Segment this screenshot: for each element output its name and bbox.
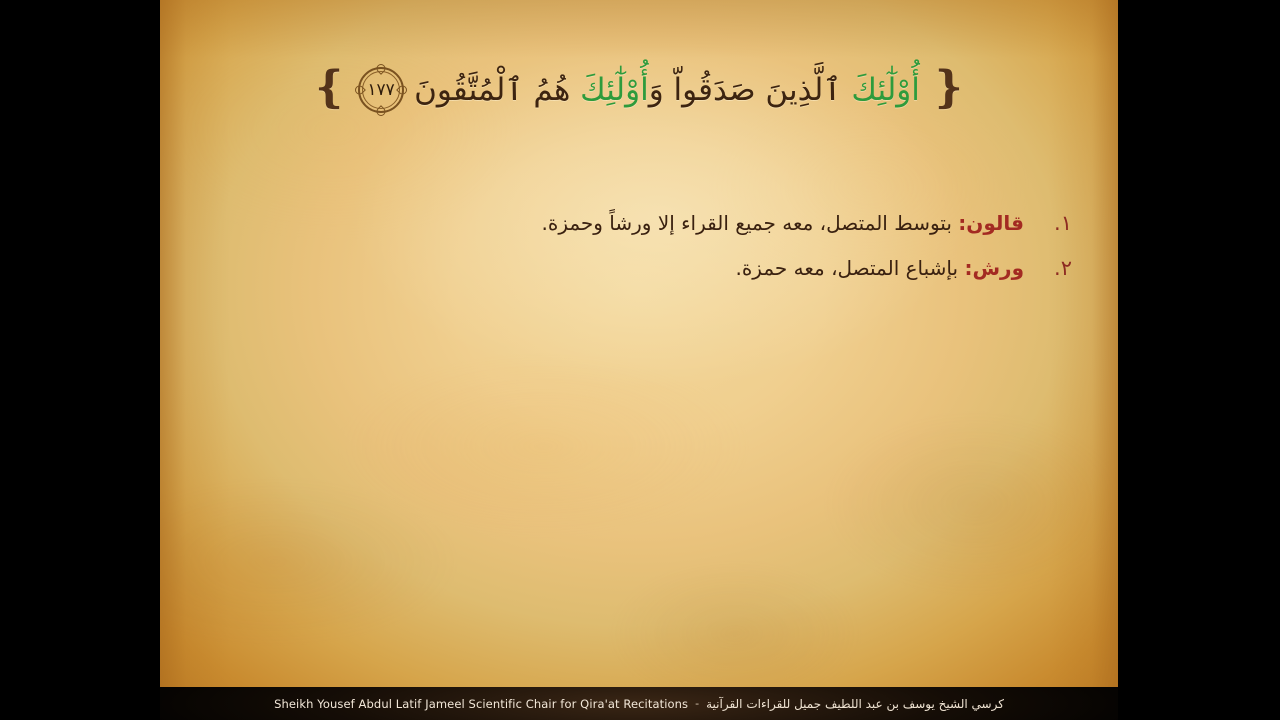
note-reciter-name: ورش: xyxy=(964,256,1024,280)
list-item: ٢. ورش: بإشباع المتصل، معه حمزة. xyxy=(456,253,1076,284)
recitation-notes-list: ١. قالون: بتوسط المتصل، معه جميع القراء … xyxy=(456,208,1076,298)
ayah-number-label: ١٧٧ xyxy=(367,80,394,100)
footer-credit-arabic: كرسي الشيخ يوسف بن عبد اللطيف جميل للقرا… xyxy=(706,697,1004,711)
verse-segment-0: أُوْلٰٓئِكَ xyxy=(851,72,920,108)
verse-segment-1: ٱلَّذِينَ صَدَقُواّ وَ xyxy=(649,72,852,108)
quran-verse-text: أُوْلٰٓئِكَ ٱلَّذِينَ صَدَقُواّ وَأُوْلٰ… xyxy=(414,67,920,114)
note-detail-text: بتوسط المتصل، معه جميع القراء إلا ورشاً … xyxy=(541,211,958,235)
note-detail-text: بإشباع المتصل، معه حمزة. xyxy=(735,256,964,280)
ayah-end-marker: ١٧٧ xyxy=(358,67,404,113)
note-body: ورش: بإشباع المتصل، معه حمزة. xyxy=(735,253,1024,284)
footer-credit-content: كرسي الشيخ يوسف بن عبد اللطيف جميل للقرا… xyxy=(274,697,1004,711)
footer-credit-bar: كرسي الشيخ يوسف بن عبد اللطيف جميل للقرا… xyxy=(160,687,1118,720)
footer-credit-separator: - xyxy=(695,697,699,710)
video-content-frame: ❴ أُوْلٰٓئِكَ ٱلَّذِينَ صَدَقُواّ وَأُوْ… xyxy=(160,0,1118,720)
note-index: ٢. xyxy=(1050,256,1076,280)
verse-segment-3: هُمُ ٱلْمُتَّقُونَ xyxy=(414,72,580,108)
quran-verse-row: ❴ أُوْلٰٓئِكَ ٱلَّذِينَ صَدَقُواّ وَأُوْ… xyxy=(160,52,1118,128)
footer-credit-english: Sheikh Yousef Abdul Latif Jameel Scienti… xyxy=(274,697,688,711)
note-index: ١. xyxy=(1050,211,1076,235)
slide-root: ❴ أُوْلٰٓئِكَ ٱلَّذِينَ صَدَقُواّ وَأُوْ… xyxy=(0,0,1280,720)
note-reciter-name: قالون: xyxy=(958,211,1024,235)
verse-open-bracket-ornament: ❴ xyxy=(930,66,967,110)
note-body: قالون: بتوسط المتصل، معه جميع القراء إلا… xyxy=(541,208,1024,239)
list-item: ١. قالون: بتوسط المتصل، معه جميع القراء … xyxy=(456,208,1076,239)
verse-close-bracket-ornament: ❵ xyxy=(311,66,348,110)
verse-segment-2: أُوْلٰٓئِكَ xyxy=(580,72,649,108)
